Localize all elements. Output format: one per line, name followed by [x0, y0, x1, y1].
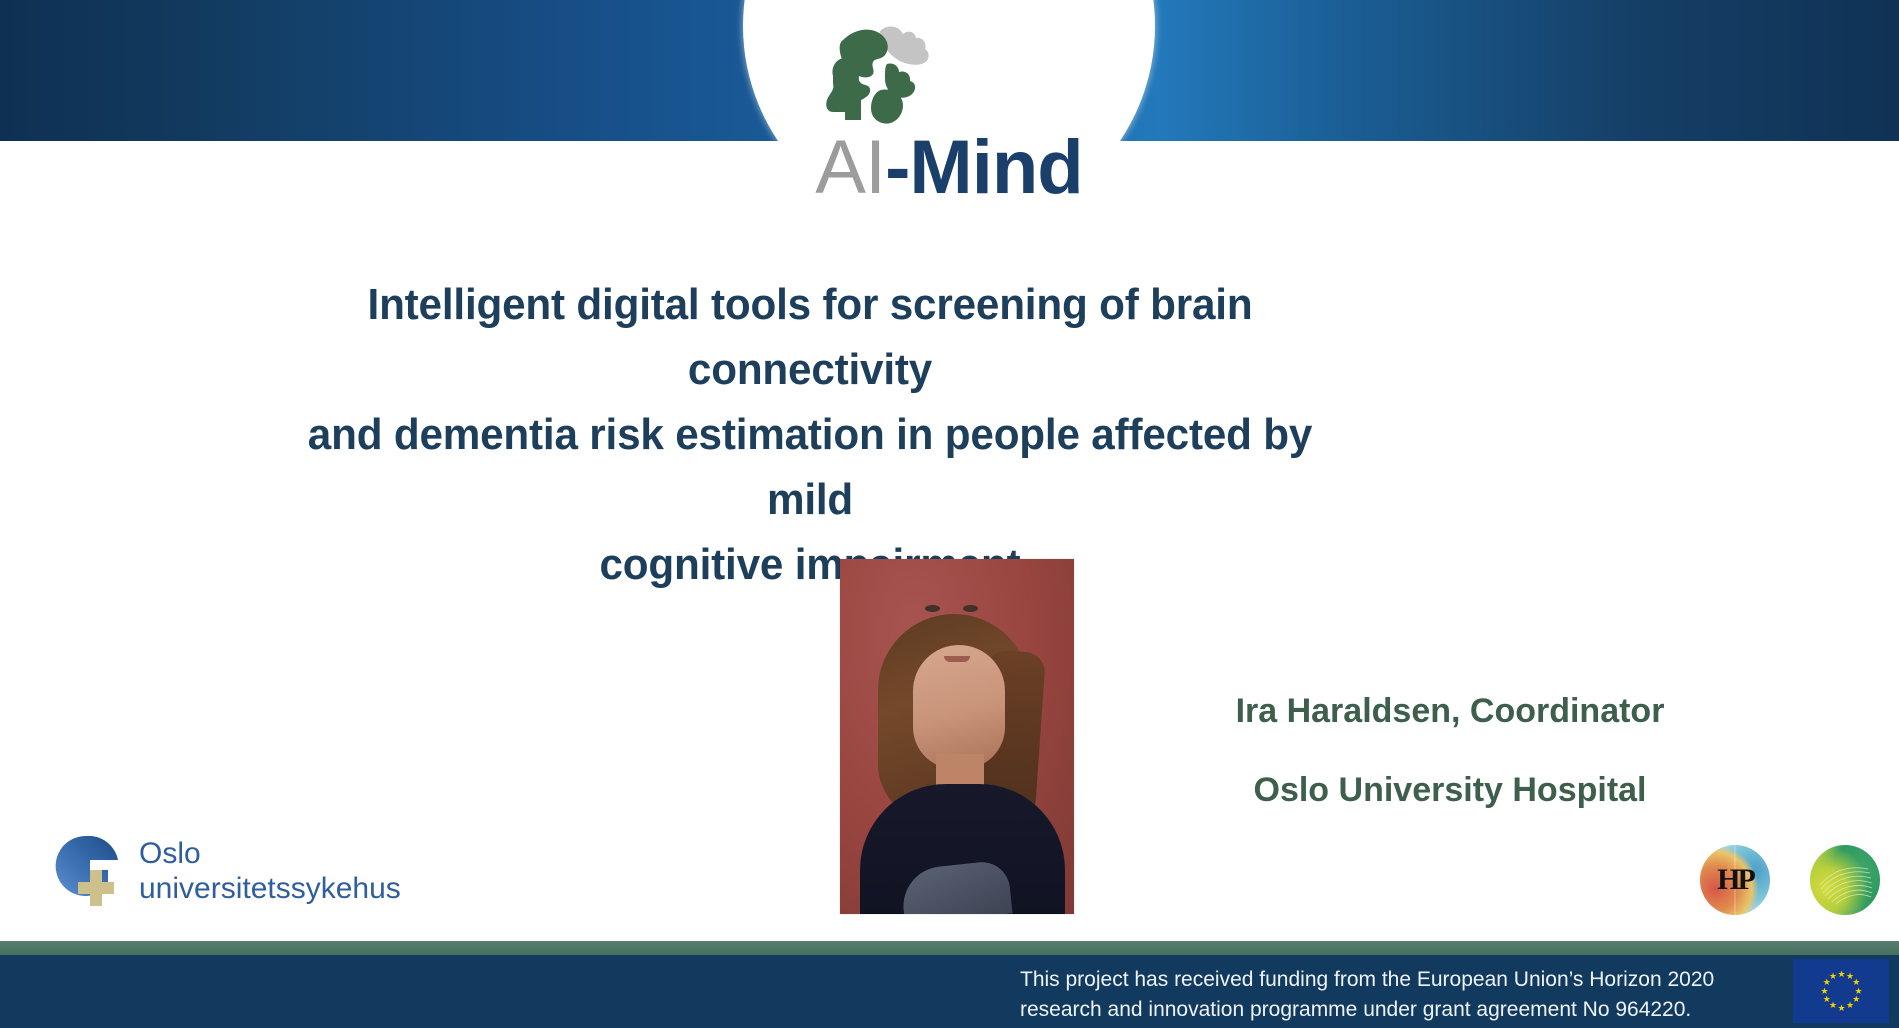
eu-star-icon: ★	[1821, 988, 1828, 995]
footer-green-stripe	[0, 941, 1899, 955]
ai-mind-wordmark: AI-Mind	[743, 128, 1155, 208]
eu-star-icon: ★	[1838, 1005, 1845, 1012]
slide-title: Intelligent digital tools for screening …	[272, 272, 1347, 597]
eu-star-icon: ★	[1852, 979, 1859, 986]
hp-watercolor-logo: HP	[1700, 845, 1770, 915]
oslo-university-hospital-logo: Oslo universitetssykehus	[44, 826, 464, 918]
portrait-mouth	[944, 656, 970, 662]
eu-star-icon: ★	[1829, 973, 1836, 980]
wordmark-ai: AI	[815, 125, 885, 210]
speaker-credit: Ira Haraldsen, Coordinator Oslo Universi…	[1040, 672, 1860, 830]
oslo-ring-cross-icon	[44, 830, 128, 914]
speaker-affiliation: Oslo University Hospital	[1040, 751, 1860, 830]
portrait-face	[913, 645, 1005, 769]
title-line-1: Intelligent digital tools for screening …	[272, 272, 1347, 402]
funding-line-2: research and innovation programme under …	[1020, 995, 1780, 1025]
title-line-2: and dementia risk estimation in people a…	[272, 402, 1347, 532]
oslo-logo-text: Oslo universitetssykehus	[139, 836, 401, 906]
presentation-slide: AI-Mind Intelligent digital tools for sc…	[0, 0, 1899, 1028]
wordmark-mind: -Mind	[885, 125, 1083, 210]
oslo-text-line-1: Oslo	[139, 836, 401, 871]
funding-line-1: This project has received funding from t…	[1020, 968, 1714, 991]
eu-star-icon: ★	[1846, 1002, 1853, 1009]
hp-monogram: HP	[1700, 845, 1770, 915]
ai-mind-logo: AI-Mind	[743, 0, 1155, 232]
eu-funding-statement: This project has received funding from t…	[1020, 965, 1780, 1025]
title-line-3: cognitive impairment	[272, 532, 1347, 597]
eu-flag-icon: ★★★★★★★★★★★★	[1793, 959, 1889, 1023]
partner-logos: HP	[1700, 845, 1885, 917]
oslo-text-line-2: universitetssykehus	[139, 871, 401, 906]
green-gradient-logo	[1810, 845, 1880, 915]
eu-star-icon: ★	[1838, 971, 1845, 978]
eu-star-icon: ★	[1823, 996, 1830, 1003]
portrait-eye-right	[963, 605, 978, 612]
speaker-name: Ira Haraldsen, Coordinator	[1236, 692, 1665, 730]
portrait-eye-left	[925, 605, 940, 612]
speaker-portrait-photo	[840, 559, 1074, 914]
